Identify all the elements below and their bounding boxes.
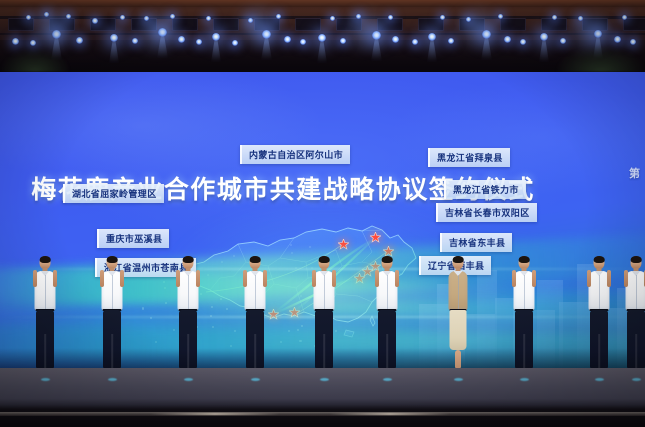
ceremony-stage-photo: 梅花鹿产业合作城市共建战略协议签约仪式 第 内蒙古自治区阿尔山市黑龙江省拜泉县湖… — [0, 0, 645, 427]
person-hair — [39, 256, 51, 263]
person-placket — [324, 275, 325, 309]
stage-light — [622, 15, 627, 20]
city-label: 重庆市巫溪县 — [97, 229, 169, 248]
person-leg-gap — [323, 334, 325, 368]
person-arm-left — [176, 270, 180, 287]
person-placket — [255, 275, 256, 309]
person-placket — [387, 275, 388, 309]
person-torso — [626, 271, 645, 311]
person-placket — [636, 275, 637, 309]
foliage-right — [556, 46, 645, 72]
stage-light — [212, 33, 220, 41]
city-label: 湖北省屈家岭管理区 — [63, 184, 164, 203]
person-hair — [182, 256, 194, 263]
person-figure — [307, 256, 341, 374]
person-lower-body — [315, 310, 333, 368]
person-leg-gap — [187, 334, 189, 368]
person-arm-right — [532, 270, 536, 287]
stage-light — [92, 18, 98, 24]
person-figure — [95, 256, 129, 374]
person-arm-left — [587, 270, 591, 287]
person-arm-left — [375, 270, 379, 287]
stage-floor — [0, 368, 645, 427]
person-arm-left — [624, 270, 628, 287]
person-arm-right — [607, 270, 611, 287]
ceiling-glow — [22, 6, 80, 50]
floor-position-mark — [251, 378, 260, 381]
stage-light — [540, 33, 548, 41]
stage-light — [206, 16, 211, 21]
stage-light — [76, 37, 83, 44]
person-lower-body — [246, 310, 264, 368]
person-hair — [518, 256, 530, 263]
floor-position-mark — [454, 378, 463, 381]
floor-shine-right — [330, 413, 450, 415]
person-arm-left — [243, 270, 247, 287]
person-leg-gap — [111, 334, 113, 368]
person-arm-right — [196, 270, 200, 287]
person-figure — [619, 256, 645, 374]
corner-partial-text: 第 — [629, 165, 643, 181]
light-fixture-housing — [295, 18, 321, 31]
person-placket — [458, 275, 459, 309]
person-placket — [45, 275, 46, 309]
foliage-left — [0, 48, 70, 72]
floor-position-mark — [41, 378, 50, 381]
person-legs-bare — [455, 350, 461, 368]
person-torso — [449, 271, 468, 311]
stage-floor-edge — [0, 412, 645, 416]
person-figure — [238, 256, 272, 374]
stage-light — [412, 39, 418, 45]
person-leg-gap — [598, 334, 600, 368]
person-lower-body — [179, 310, 197, 368]
stage-light — [440, 15, 445, 20]
ceiling-glow — [228, 4, 286, 48]
stage-light — [300, 39, 306, 45]
person-hair — [452, 256, 464, 263]
stage-light — [110, 34, 118, 42]
person-lower-body — [627, 310, 645, 368]
person-placket — [599, 275, 600, 309]
person-arm-right — [332, 270, 336, 287]
stage-light — [552, 15, 557, 20]
stage-light — [318, 34, 326, 42]
person-hair — [593, 256, 605, 263]
floor-position-mark — [632, 378, 641, 381]
person-figure — [582, 256, 616, 374]
city-label: 吉林省东丰县 — [440, 233, 512, 252]
person-lower-body — [590, 310, 608, 368]
ceiling-glow — [448, 6, 506, 50]
person-leg-gap — [635, 334, 637, 368]
person-hair — [630, 256, 642, 263]
person-placket — [188, 275, 189, 309]
person-lower-body — [36, 310, 54, 368]
person-figure — [507, 256, 541, 374]
stage-light — [330, 16, 335, 21]
person-leg-gap — [523, 334, 525, 368]
person-placket — [524, 275, 525, 309]
ceiling-rim — [0, 0, 645, 7]
person-leg-gap — [386, 334, 388, 368]
person-arm-right — [120, 270, 124, 287]
stage-light — [120, 15, 125, 20]
floor-position-mark — [108, 378, 117, 381]
person-lower-body — [450, 310, 467, 350]
person-figure — [28, 256, 62, 374]
city-label: 内蒙古自治区阿尔山市 — [240, 145, 350, 164]
floor-position-mark — [184, 378, 193, 381]
person-lower-body — [515, 310, 533, 368]
floor-position-mark — [383, 378, 392, 381]
person-hair — [106, 256, 118, 263]
stage-light — [504, 36, 511, 43]
person-arm-left — [33, 270, 37, 287]
person-arm-right — [263, 270, 267, 287]
person-placket — [112, 275, 113, 309]
stage-light — [392, 36, 399, 43]
person-figure — [370, 256, 404, 374]
city-label: 黑龙江省铁力市 — [444, 180, 526, 199]
person-leg-gap — [254, 334, 256, 368]
city-label: 吉林省长春市双阳区 — [436, 203, 537, 222]
person-hair — [249, 256, 261, 263]
stage-light — [520, 39, 526, 45]
person-arm-right — [395, 270, 399, 287]
person-figure — [171, 256, 205, 374]
floor-shine-left — [150, 413, 280, 415]
floor-position-mark — [595, 378, 604, 381]
stage-light — [12, 38, 19, 45]
person-lower-body — [103, 310, 121, 368]
person-lower-body — [378, 310, 396, 368]
ceiling-glow — [128, 10, 186, 54]
stage-light — [428, 33, 436, 41]
stage-light — [196, 39, 202, 45]
ceiling-truss — [0, 0, 645, 72]
floor-position-mark — [520, 378, 529, 381]
person-hair — [318, 256, 330, 263]
floor-position-mark — [320, 378, 329, 381]
person-arm-left — [512, 270, 516, 287]
light-fixture-housing — [418, 18, 444, 31]
person-arm-left — [312, 270, 316, 287]
stage-light — [284, 36, 291, 43]
ceiling-glow — [336, 8, 394, 52]
stage-light — [630, 39, 636, 45]
person-figure — [441, 256, 475, 374]
person-hair — [381, 256, 393, 263]
city-label: 黑龙江省拜泉县 — [428, 148, 510, 167]
light-fixture-housing — [623, 18, 645, 31]
person-leg-gap — [44, 334, 46, 368]
person-arm-right — [53, 270, 57, 287]
person-arm-left — [100, 270, 104, 287]
